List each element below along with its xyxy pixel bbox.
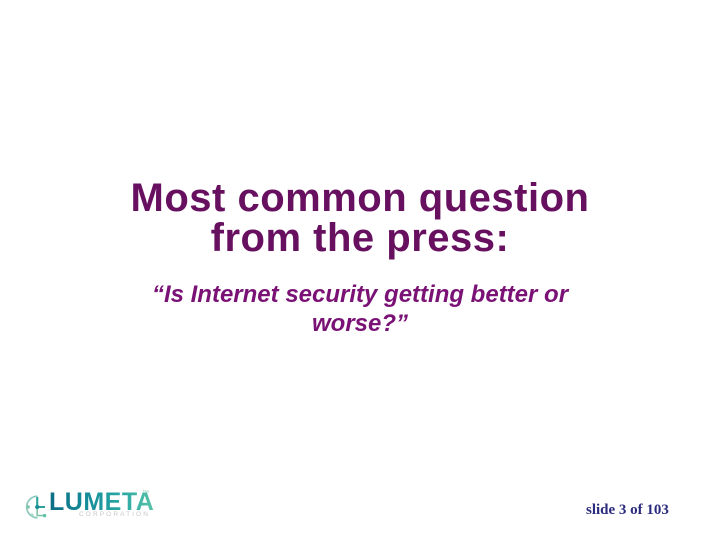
slide-counter: slide 3 of 103 <box>586 501 669 519</box>
lumeta-corporation-subtext: CORPORATION <box>79 511 150 519</box>
lumeta-network-mark-icon <box>21 491 51 523</box>
presentation-slide: Most common question from the press: “Is… <box>0 0 719 539</box>
slide-subtitle-line-1: “Is Internet security getting better or <box>60 280 660 309</box>
slide-title-line-2: from the press: <box>60 218 660 258</box>
slide-subtitle-line-2: worse?” <box>60 309 660 338</box>
slide-subtitle: “Is Internet security getting better or … <box>60 280 660 338</box>
trademark-symbol: ™ <box>142 490 149 498</box>
slide-title: Most common question from the press: <box>60 178 660 258</box>
lumeta-logo: LUMETA ™ CORPORATION <box>21 489 157 529</box>
slide-title-line-1: Most common question <box>60 178 660 218</box>
